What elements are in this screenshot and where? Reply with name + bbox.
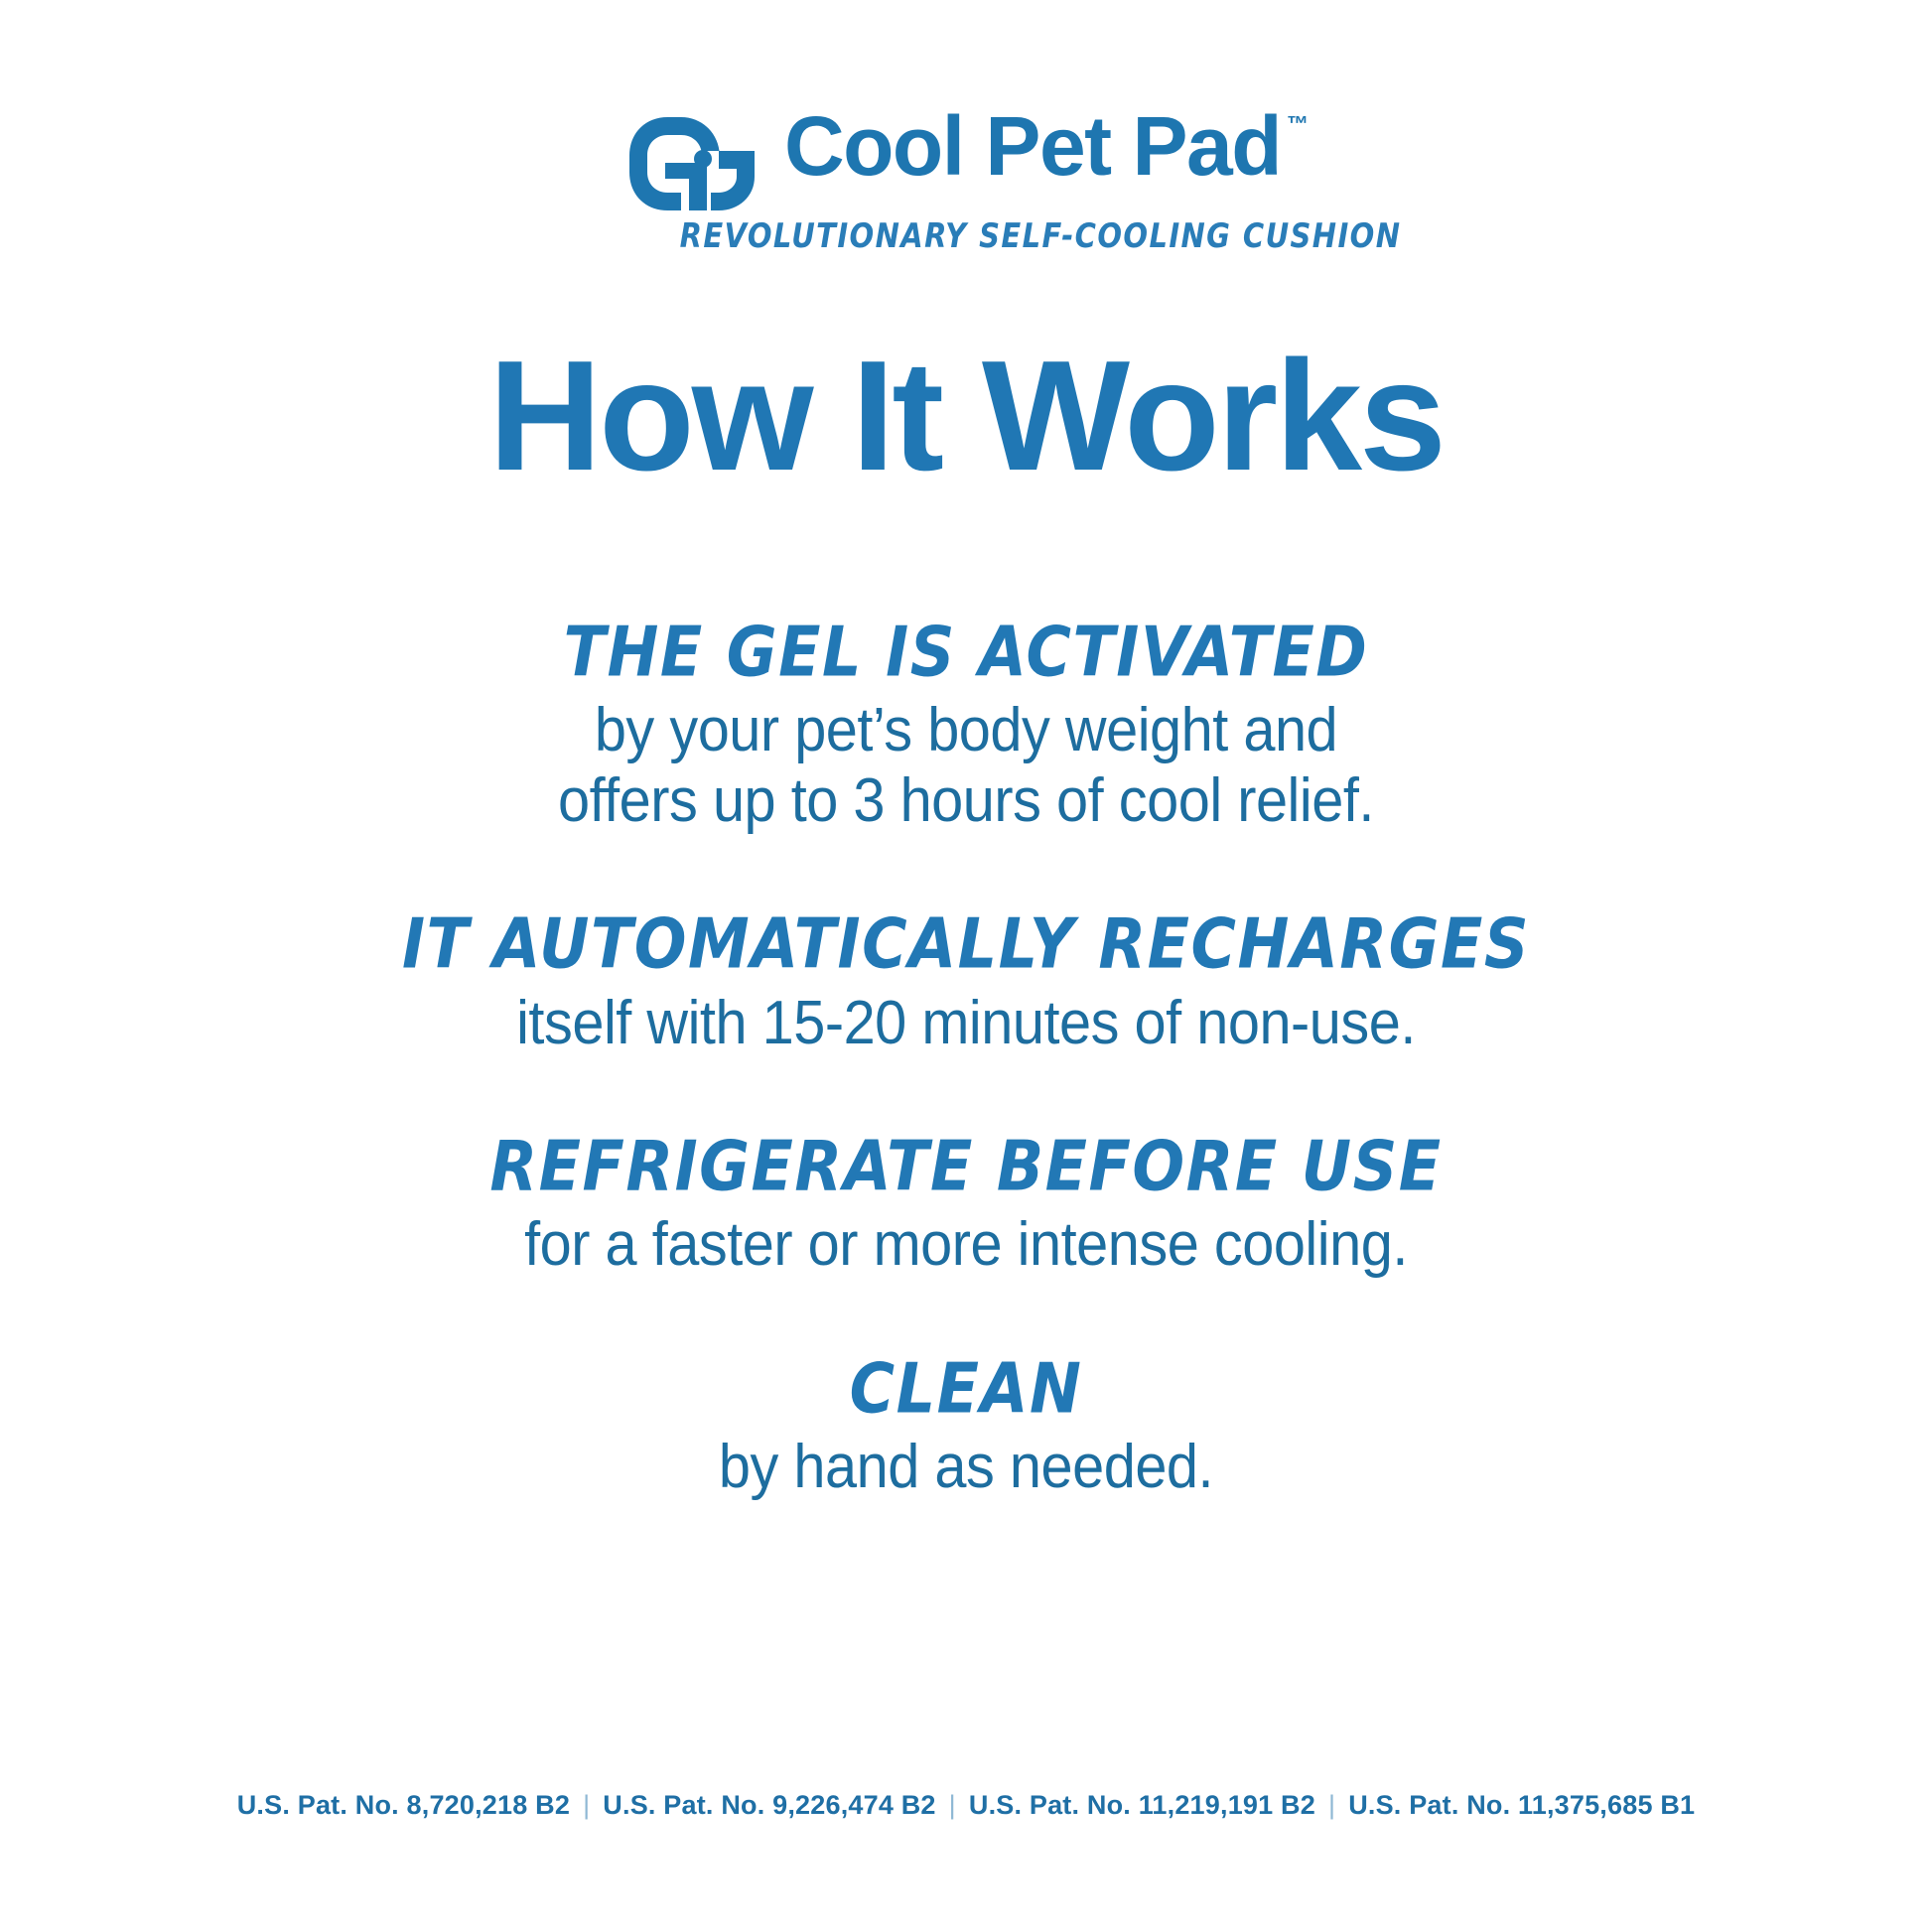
patent-separator: |: [583, 1790, 590, 1821]
dog-head-gp-monogram-icon: [623, 115, 759, 212]
patent-separator: |: [1328, 1790, 1335, 1821]
step-body-line: for a faster or more intense cooling.: [68, 1210, 1864, 1281]
how-it-works-infographic: Cool Pet Pad ™ REVOLUTIONARY SELF-COOLIN…: [0, 0, 1932, 1932]
step-body: by your pet’s body weight and offers up …: [68, 696, 1864, 836]
step-item: REFRIGERATE BEFORE USE for a faster or m…: [0, 1130, 1932, 1281]
step-item: IT AUTOMATICALLY RECHARGES itself with 1…: [0, 907, 1932, 1058]
step-heading: REFRIGERATE BEFORE USE: [0, 1130, 1932, 1202]
step-heading: THE GEL IS ACTIVATED: [0, 616, 1932, 688]
patent-notice: U.S. Pat. No. 8,720,218 B2 | U.S. Pat. N…: [237, 1790, 1696, 1821]
brand-logo-block: Cool Pet Pad ™ REVOLUTIONARY SELF-COOLIN…: [0, 107, 1932, 252]
trademark-symbol: ™: [1287, 111, 1309, 137]
step-body: by hand as needed.: [68, 1433, 1864, 1503]
page-title: How It Works: [0, 338, 1932, 494]
step-heading: IT AUTOMATICALLY RECHARGES: [0, 907, 1932, 980]
patent-separator: |: [949, 1790, 956, 1821]
patent-number: U.S. Pat. No. 11,219,191 B2: [969, 1790, 1315, 1821]
step-body-line: offers up to 3 hours of cool relief.: [68, 766, 1864, 837]
footer: U.S. Pat. No. 8,720,218 B2 | U.S. Pat. N…: [0, 1790, 1932, 1821]
patent-number: U.S. Pat. No. 11,375,685 B1: [1348, 1790, 1695, 1821]
step-item: THE GEL IS ACTIVATED by your pet’s body …: [0, 616, 1932, 836]
step-body-line: by your pet’s body weight and: [68, 696, 1864, 766]
logo-row: Cool Pet Pad ™: [623, 107, 1309, 212]
brand-wordmark: Cool Pet Pad: [784, 107, 1281, 187]
step-body-line: itself with 15-20 minutes of non-use.: [68, 989, 1864, 1059]
step-body-line: by hand as needed.: [68, 1433, 1864, 1503]
step-heading: CLEAN: [0, 1352, 1932, 1425]
step-item: CLEAN by hand as needed.: [0, 1352, 1932, 1503]
brand-tagline: REVOLUTIONARY SELF-COOLING CUSHION: [680, 215, 1402, 255]
step-body: itself with 15-20 minutes of non-use.: [68, 989, 1864, 1059]
steps-list: THE GEL IS ACTIVATED by your pet’s body …: [0, 616, 1932, 1503]
patent-number: U.S. Pat. No. 8,720,218 B2: [237, 1790, 570, 1821]
wordmark-wrap: Cool Pet Pad ™: [784, 107, 1309, 187]
patent-number: U.S. Pat. No. 9,226,474 B2: [603, 1790, 935, 1821]
step-body: for a faster or more intense cooling.: [68, 1210, 1864, 1281]
